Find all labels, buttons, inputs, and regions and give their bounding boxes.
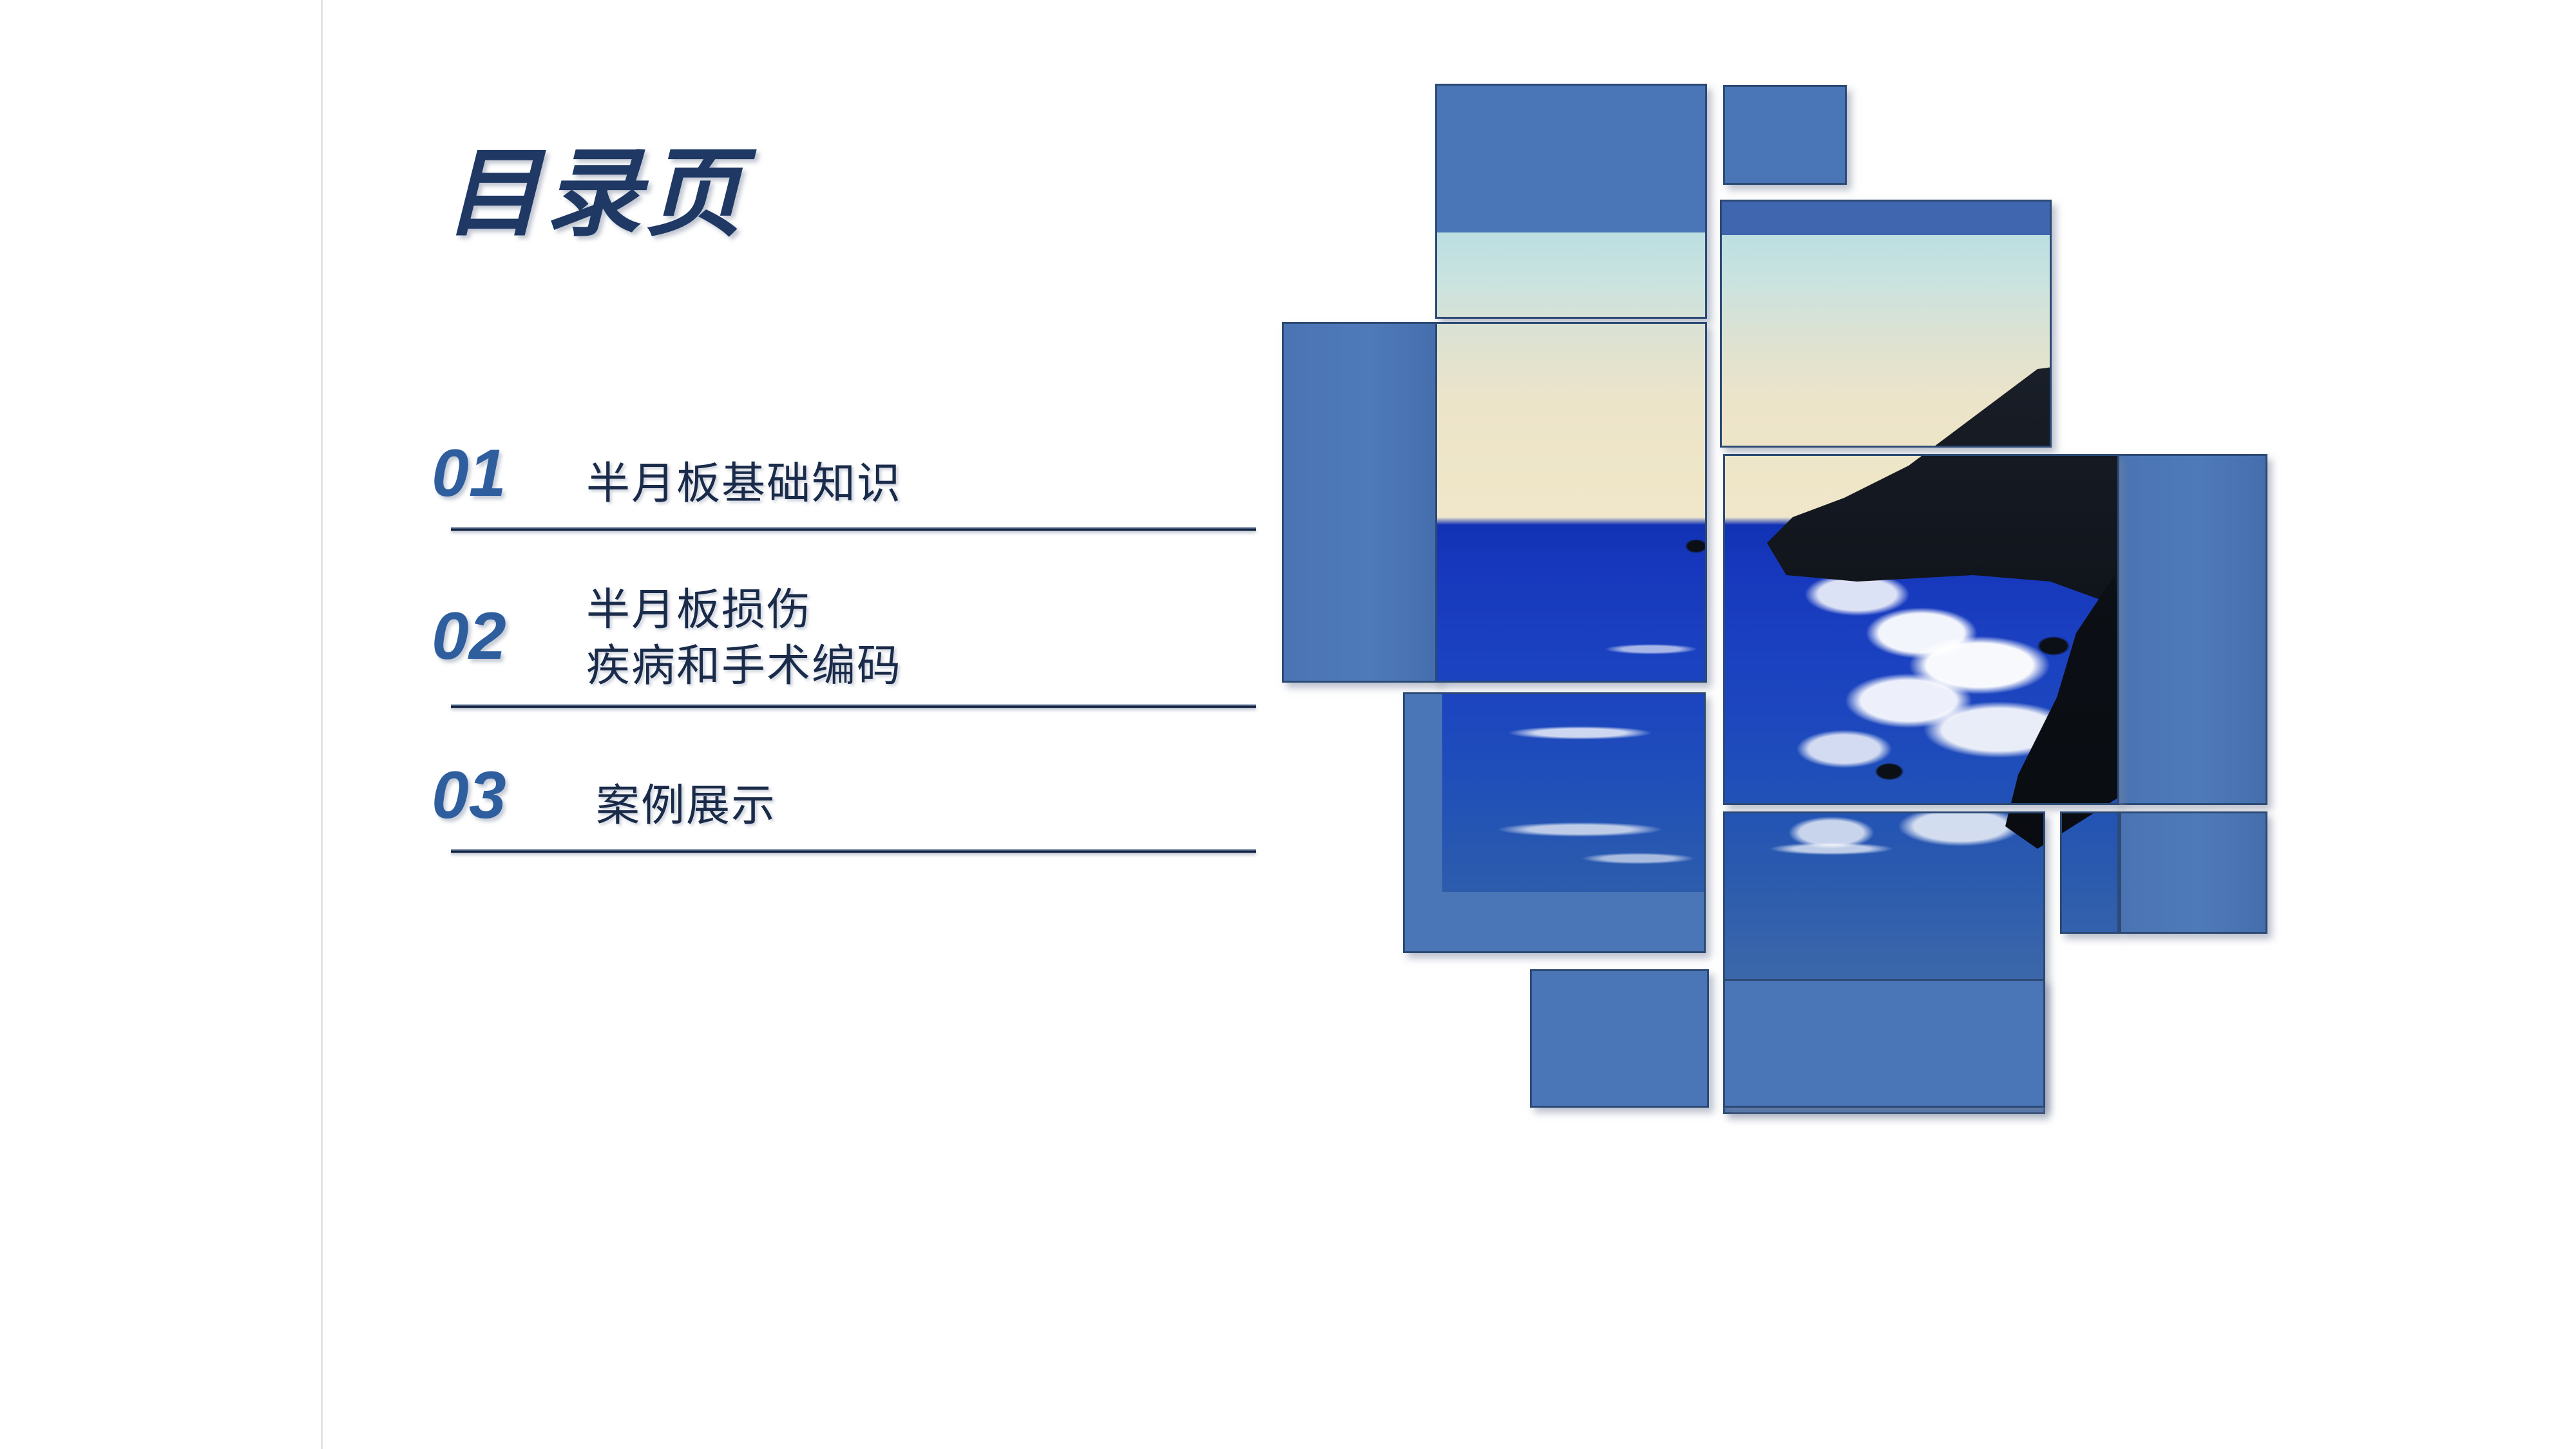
collage-tile-8-fill-bottom [1405, 892, 1704, 951]
collage-tile-3-fill [1722, 202, 2050, 235]
collage-tile-2 [1723, 85, 1847, 185]
collage-tile-4 [1282, 322, 1440, 683]
agenda-number-02: 02 [432, 603, 506, 670]
image-collage [1275, 64, 2235, 1391]
agenda-list: 01 半月板基础知识 02 半月板损伤 疾病和手术编码 03 案例展示 [425, 386, 1263, 853]
collage-tile-3 [1720, 200, 2052, 448]
agenda-item-02[interactable]: 02 半月板损伤 疾病和手术编码 [425, 531, 1263, 708]
agenda-label-02: 半月板损伤 疾病和手术编码 [586, 582, 902, 694]
collage-tile-1-fill [1437, 86, 1705, 232]
artwork-layer [1435, 322, 1707, 683]
collage-tile-11 [2119, 811, 2267, 934]
collage-tile-5 [1435, 322, 1707, 683]
agenda-item-03[interactable]: 03 案例展示 [425, 708, 1263, 853]
agenda-number-03: 03 [432, 762, 506, 829]
agenda-label-01: 半月板基础知识 [586, 456, 902, 512]
collage-tile-6 [2116, 454, 2267, 805]
slide-root: 目录页 01 半月板基础知识 02 半月板损伤 疾病和手术编码 03 案例展示 [0, 0, 2576, 1449]
collage-tile-10 [2060, 811, 2119, 934]
agenda-item-01[interactable]: 01 半月板基础知识 [425, 386, 1263, 531]
agenda-divider-03 [451, 849, 1256, 853]
collage-tile-7 [1723, 454, 2119, 805]
page-title: 目录页 [444, 145, 746, 241]
artwork-layer [2060, 811, 2119, 934]
collage-tile-12 [1530, 969, 1709, 1108]
collage-tile-13 [1723, 979, 2045, 1108]
agenda-label-03: 案例展示 [596, 778, 776, 834]
agenda-number-01: 01 [432, 440, 506, 507]
collage-tile-8 [1403, 692, 1706, 953]
left-margin-rule [321, 0, 323, 1449]
collage-tile-1 [1435, 84, 1707, 319]
